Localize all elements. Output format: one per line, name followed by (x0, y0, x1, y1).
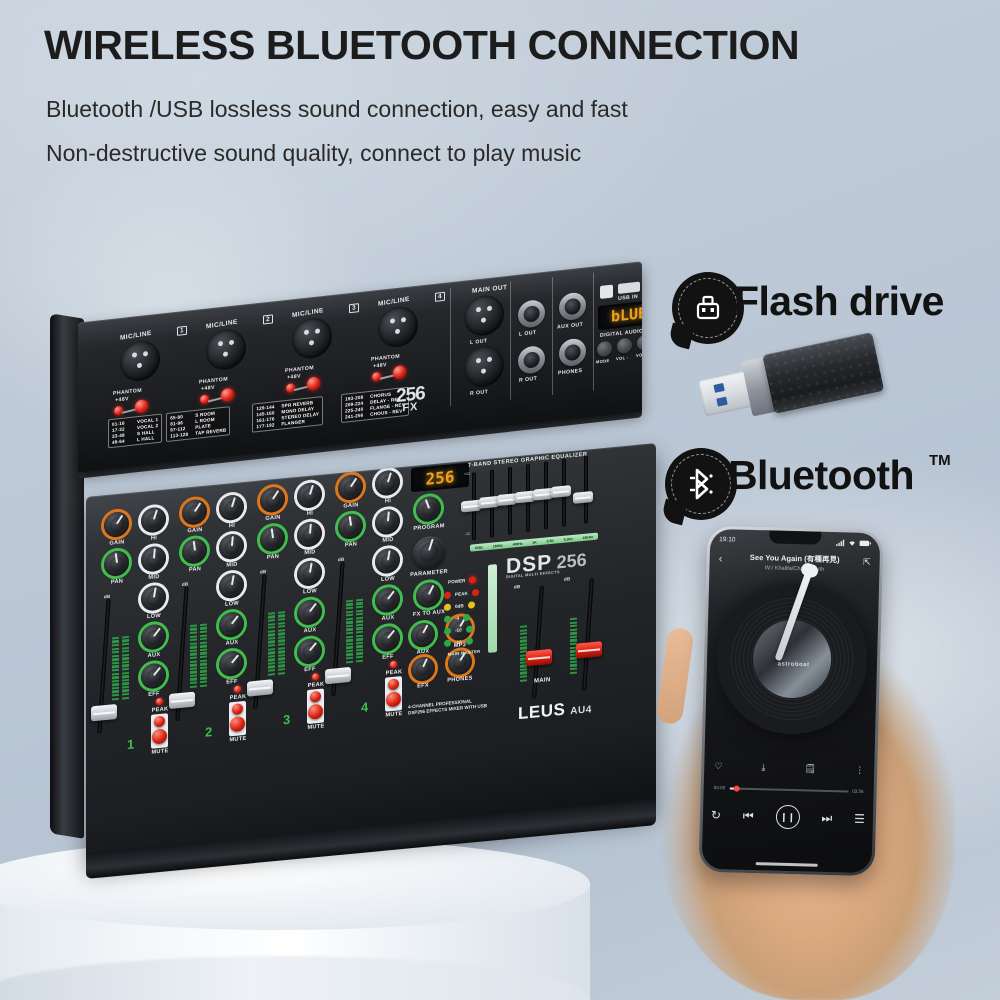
eq-band-label-2: 160Hz (493, 543, 503, 548)
aux-label-2: AUX (217, 639, 247, 648)
master-aux-knob[interactable] (411, 622, 435, 648)
peak-led-4 (390, 661, 397, 669)
mid-label-2: MID (217, 561, 247, 570)
main-out-xlr-left[interactable] (464, 293, 504, 337)
pan-knob-3[interactable] (260, 525, 285, 552)
power-led-label: POWER (448, 578, 465, 585)
channel-meter-4 (346, 567, 353, 664)
time-total: 03:56 (852, 789, 864, 794)
bluetooth-label: Bluetooth (728, 452, 914, 499)
mic-line-label-3: MIC/LINE (292, 307, 324, 319)
peak-led-left (444, 591, 451, 599)
minus10-led-left (444, 627, 451, 635)
efx-knob-2[interactable] (219, 650, 244, 677)
eq-band-label-4: 1K (532, 540, 536, 544)
phantom-led-2[interactable] (221, 388, 234, 402)
dap-volume-up-button[interactable] (637, 334, 642, 351)
hi-label-3: HI (295, 509, 325, 518)
main-out-xlr-right-label: R OUT (470, 389, 488, 397)
brand-logo: LEUS AU4 (518, 697, 592, 724)
brand-name: LEUS (518, 700, 565, 723)
more-button[interactable]: ⋮ (855, 765, 864, 776)
phantom-led-4[interactable] (393, 365, 406, 379)
zero-db-led-row: 0dB (444, 601, 475, 611)
low-label-4: LOW (373, 575, 403, 584)
peak-led-3 (312, 673, 319, 681)
preset-group-2: 65-80S ROOM 81-96L ROOM 97-112PLATE 113-… (166, 406, 230, 442)
lyrics-button[interactable]: 🗒 (804, 763, 816, 774)
gain-label-3: GAIN (258, 514, 288, 523)
progress-bar[interactable] (729, 787, 848, 792)
phones-jack[interactable] (559, 337, 586, 367)
mid-knob-1[interactable] (141, 545, 166, 572)
main-fader-label: MAIN (534, 677, 551, 685)
lcd-text: bLUE (611, 304, 642, 326)
channel-meter-3b (278, 578, 285, 675)
preset-group-1: 01-16VOCAL 1 17-32VOCAL 2 33-48S HALL 49… (108, 413, 162, 448)
transport-controls: ↻ ⏮ ❙❙ ⏭ ☰ (711, 803, 866, 831)
pan-label-2: PAN (180, 565, 210, 574)
mid-knob-2[interactable] (219, 533, 244, 560)
hi-knob-1[interactable] (141, 506, 166, 533)
audio-mixer-product: MIC/LINE 1 PHANTOM +48V MIC/LINE 2 PHANT… (50, 292, 630, 852)
peak-led-row: PEAK (444, 589, 479, 599)
page-headline: WIRELESS BLUETOOTH CONNECTION (44, 22, 964, 69)
gain-label-1: GAIN (102, 539, 132, 548)
progress-section: 00:05 03:56 (714, 785, 864, 794)
subheadline-line-2: Non-destructive sound quality, connect t… (46, 140, 581, 167)
channel-number-1: 1 (177, 326, 187, 336)
download-button[interactable]: ⤓ (761, 762, 765, 773)
channel-number-label-4: 4 (361, 699, 368, 715)
master-efx-label: EFX (403, 681, 443, 691)
efx-knob-4[interactable] (375, 625, 400, 652)
peak-led-label: PEAK (455, 591, 468, 597)
gain-label-4: GAIN (336, 501, 366, 510)
fx-256-badge: 256 FX (396, 385, 425, 415)
hi-label-2: HI (217, 522, 247, 531)
aux-knob-1[interactable] (141, 623, 166, 650)
channel-fader-3[interactable] (247, 679, 273, 696)
channel-meter-1b (122, 603, 129, 700)
progress-handle[interactable] (733, 785, 739, 791)
minus16-label: -16 (455, 639, 462, 645)
channel-meter-3 (268, 579, 275, 676)
mid-knob-4[interactable] (375, 508, 400, 535)
mute-label-1: MUTE (144, 747, 176, 756)
pan-label-4: PAN (336, 540, 366, 549)
trs-left-out-jack[interactable] (518, 299, 545, 329)
eq-fader-6[interactable] (551, 485, 571, 498)
decorative-green-strip (488, 564, 497, 653)
channel-meter-2b (200, 591, 207, 688)
power-led (469, 576, 476, 584)
dap-mode-label: MODE (596, 358, 610, 364)
usb-in-label: USB IN (618, 294, 638, 302)
mid-label-3: MID (295, 548, 325, 557)
bluetooth-icon (686, 466, 716, 502)
mic-line-label-1: MIC/LINE (120, 330, 152, 342)
main-out-xlr-left-label: L OUT (470, 338, 487, 346)
battery-icon (859, 540, 871, 547)
trs-right-out-label: R OUT (519, 376, 537, 384)
pan-knob-1[interactable] (104, 550, 129, 577)
dsp-badge: DSP 256 DIGITAL MULTI EFFECTS (506, 548, 587, 580)
master-db-label-left: dB (514, 584, 520, 590)
efx-knob-1[interactable] (141, 662, 166, 689)
flash-drive-label: Flash drive (734, 278, 944, 325)
channel-meter-1 (112, 604, 119, 701)
aux-knob-2[interactable] (219, 611, 244, 638)
master-db-label-right: dB (564, 576, 570, 582)
like-button[interactable]: ♡ (714, 761, 722, 772)
efx-knob-3[interactable] (297, 638, 322, 665)
master-meter-right (570, 586, 577, 675)
gain-knob-1[interactable] (104, 511, 129, 538)
now-playing-info: See You Again (有種再見) W:/ Khalifa/Charlie… (709, 551, 879, 574)
status-time: 19:10 (719, 536, 735, 543)
channel-number-4: 4 (435, 292, 445, 302)
master-phones-label: PHONES (438, 675, 482, 685)
preset-group-3: 129-144SPR REVERB 145-160MONO DELAY 161-… (252, 396, 323, 433)
mute-label-3: MUTE (300, 723, 332, 732)
previous-button[interactable]: ⏮ (743, 808, 754, 823)
channel-fader-1[interactable] (91, 704, 117, 721)
hi-knob-2[interactable] (219, 494, 244, 521)
channel-meter-2 (190, 591, 197, 688)
eq-fader-2[interactable] (479, 496, 499, 509)
phantom-led-3[interactable] (307, 376, 320, 390)
channel-meter-4b (356, 566, 363, 663)
efx-label-2: EFF (217, 678, 247, 687)
album-vinyl: astroboat (715, 582, 869, 736)
mixer-control-console: GAIN HI PAN MID LOW AUX EFF dB PEAK (86, 443, 656, 865)
playlist-button[interactable]: ☰ (854, 812, 865, 826)
minus10-label: -10 (455, 627, 462, 633)
product-tagline: 4-CHANNEL PROFESSIONAL DSP256 EFFECTS MI… (408, 697, 487, 717)
low-label-1: LOW (139, 612, 169, 621)
aux-knob-3[interactable] (297, 599, 322, 626)
hi-knob-4[interactable] (375, 469, 400, 496)
mute-label-4: MUTE (378, 710, 410, 719)
efx-label-1: EFF (139, 690, 169, 699)
mid-label-4: MID (373, 536, 403, 545)
phantom-volt-3: +48V (287, 373, 301, 381)
peak-led-1 (156, 698, 163, 706)
program-display: 256 (411, 463, 469, 492)
low-label-3: LOW (295, 587, 325, 596)
usb-mode-icon (600, 285, 613, 299)
channel-fader-2[interactable] (169, 692, 195, 709)
gain-label-2: GAIN (180, 526, 210, 535)
zero-db-label: 0dB (455, 603, 464, 609)
low-knob-4[interactable] (375, 547, 400, 574)
low-knob-1[interactable] (141, 584, 166, 611)
channel-number-label-2: 2 (205, 724, 212, 740)
phone-screen: 19:10 ‹ ⇱ See You Again (有種再見 (702, 529, 881, 873)
wifi-icon (848, 539, 856, 546)
mixer-io-panel: MIC/LINE 1 PHANTOM +48V MIC/LINE 2 PHANT… (78, 261, 642, 472)
mic-line-label-4: MIC/LINE (378, 296, 410, 308)
zero-db-led-left (444, 603, 451, 611)
parameter-label: PARAMETER (403, 568, 455, 579)
aux-knob-4[interactable] (375, 586, 400, 613)
aux-label-1: AUX (139, 651, 169, 660)
peak-led-2 (234, 685, 241, 693)
channel-number-2: 2 (263, 314, 273, 324)
usb-in-port[interactable] (618, 282, 640, 294)
main-out-label: MAIN OUT (472, 284, 507, 295)
fx-to-aux-knob[interactable] (416, 581, 441, 608)
mic-line-jack-3[interactable] (292, 316, 332, 360)
program-knob[interactable] (416, 495, 441, 522)
phones-label: PHONES (558, 368, 582, 377)
dap-volume-down-label: VOL - (616, 355, 629, 361)
eq-fader-5[interactable] (533, 488, 553, 501)
mute-label-2: MUTE (222, 735, 254, 744)
channel-fader-4[interactable] (325, 667, 351, 684)
hi-label-1: HI (139, 534, 169, 543)
smartphone: 19:10 ‹ ⇱ See You Again (有種再見 (699, 526, 884, 876)
eq-scale-bottom: -12 (460, 533, 470, 538)
eq-band-label-7: 16KHz (583, 535, 593, 540)
mic-line-jack-1[interactable] (120, 339, 160, 383)
dap-mode-button[interactable] (597, 341, 612, 358)
gain-knob-4[interactable] (338, 474, 363, 501)
minus10-led-right (466, 625, 473, 633)
mid-label-1: MID (139, 573, 169, 582)
master-fader-slot-right (582, 578, 594, 691)
channel-number-label-3: 3 (283, 712, 290, 728)
aux-out-jack[interactable] (559, 291, 586, 321)
main-out-xlr-right[interactable] (464, 344, 504, 388)
minus16-led-left (444, 639, 451, 647)
pan-label-3: PAN (258, 553, 288, 562)
time-elapsed: 00:05 (714, 785, 726, 790)
bluetooth-bubble (665, 448, 737, 520)
parameter-knob[interactable] (413, 535, 445, 570)
aux-out-label: AUX OUT (557, 322, 583, 331)
gain-knob-2[interactable] (182, 499, 207, 526)
low-knob-3[interactable] (297, 560, 322, 587)
channel-number-3: 3 (349, 303, 359, 313)
album-art-text: astroboat (778, 662, 810, 669)
power-led-row: POWER (448, 576, 476, 586)
pan-label-1: PAN (102, 578, 132, 587)
usb-icon (691, 293, 725, 323)
phantom-volt-1: +48V (115, 396, 129, 404)
eq-band-label-3: 400Hz (513, 541, 523, 546)
minus4-label: -4 (455, 616, 459, 621)
repeat-button[interactable]: ↻ (711, 808, 721, 822)
minus4-led-left (444, 615, 451, 623)
master-meter-left (520, 593, 527, 682)
dap-volume-up-label: VOL+ (636, 352, 642, 358)
program-display-value: 256 (426, 467, 455, 489)
bluetooth-trademark: TM (929, 452, 951, 469)
eq-fader-7[interactable] (573, 491, 593, 504)
dap-volume-down-button[interactable] (617, 337, 632, 354)
phone-notch (769, 530, 821, 544)
phantom-volt-4: +48V (373, 362, 387, 370)
gain-knob-3[interactable] (260, 486, 285, 513)
program-label: PROGRAM (406, 522, 452, 532)
trs-right-out-jack[interactable] (518, 345, 545, 375)
mid-knob-3[interactable] (297, 521, 322, 548)
status-icons (836, 539, 871, 547)
eq-band-label-5: 2.5K (547, 538, 554, 543)
master-efx-knob[interactable] (411, 656, 435, 682)
eq-fader-1[interactable] (461, 500, 481, 513)
aux-label-4: AUX (373, 614, 403, 623)
next-button[interactable]: ⏭ (821, 810, 832, 825)
mic-line-jack-4[interactable] (378, 305, 418, 349)
channel-number-label-1: 1 (127, 736, 134, 752)
mic-line-label-2: MIC/LINE (206, 318, 238, 330)
secondary-controls: ♡ ⤓ 🗒 ⋮ (714, 761, 864, 776)
fx-preset-table: 01-16VOCAL 1 17-32VOCAL 2 33-48S HALL 49… (108, 387, 409, 449)
pan-knob-4[interactable] (338, 513, 363, 540)
peak-led-right (472, 589, 479, 597)
low-label-2: LOW (217, 600, 247, 609)
zero-db-led-right (468, 601, 475, 609)
lcd-display: bLUE (598, 299, 642, 330)
trs-left-out-label: L OUT (519, 330, 536, 338)
dsp-number: 256 (557, 550, 587, 573)
hi-label-4: HI (373, 497, 403, 506)
home-indicator (756, 862, 818, 867)
product-marketing-image: WIRELESS BLUETOOTH CONNECTION Bluetooth … (0, 0, 1000, 1000)
hi-knob-3[interactable] (297, 482, 322, 509)
minus4-led-right (463, 614, 470, 622)
minus16-led-right (466, 637, 473, 645)
play-pause-button[interactable]: ❙❙ (775, 805, 800, 830)
phantom-led-1[interactable] (135, 399, 148, 413)
signal-icon (836, 539, 845, 546)
eq-fader-4[interactable] (515, 490, 535, 503)
eq-fader-3[interactable] (497, 493, 517, 506)
model-name: AU4 (570, 704, 592, 717)
efx-label-3: EFF (295, 665, 325, 674)
pan-knob-2[interactable] (182, 538, 207, 565)
efx-label-4: EFF (373, 653, 403, 662)
aux-label-3: AUX (295, 626, 325, 635)
eq-band-label-6: 6.3Kz (564, 536, 573, 541)
phantom-volt-2: +48V (201, 385, 215, 393)
subheadline-line-1: Bluetooth /USB lossless sound connection… (46, 96, 628, 123)
mic-line-jack-2[interactable] (206, 327, 246, 371)
low-knob-2[interactable] (219, 572, 244, 599)
eq-band-label-1: 63Hz (475, 545, 483, 550)
master-fader-left[interactable] (526, 649, 552, 666)
master-fader-right[interactable] (576, 641, 602, 658)
